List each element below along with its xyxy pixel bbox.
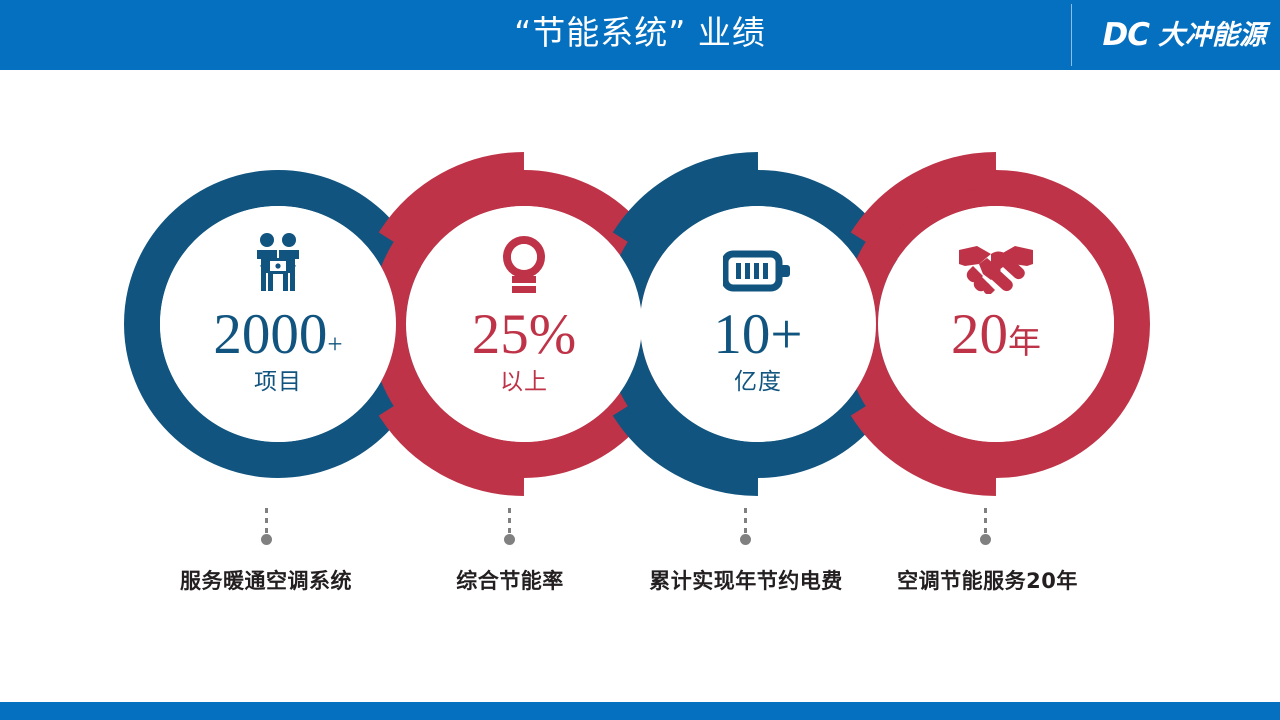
stat-number-1-value: 2000: [213, 303, 327, 366]
stat-icon-2-wrapper: [424, 230, 624, 294]
stat-unit-2: 以上: [424, 370, 624, 395]
battery-icon: [723, 248, 793, 294]
stat-number-1: 2000+: [178, 306, 378, 363]
stat-number-4-value: 20: [951, 303, 1008, 366]
stat-unit-1: 项目: [178, 370, 378, 395]
stat-card-3: 10+ 亿度: [658, 230, 858, 395]
stat-caption-2: 综合节能率: [410, 565, 610, 595]
stat-number-4: 20年: [896, 306, 1096, 363]
connector-dot-1: [261, 534, 272, 545]
footer-bar: [0, 702, 1280, 720]
handshake-icon: [957, 242, 1035, 294]
stat-unit-3: 亿度: [658, 370, 858, 395]
stat-number-4-suffix: 年: [1008, 325, 1041, 361]
stat-number-3: 10+: [658, 306, 858, 363]
stat-caption-1: 服务暖通空调系统: [166, 565, 366, 595]
logo-mark-dc: DC: [1103, 20, 1149, 51]
stat-number-2-value: 25%: [472, 303, 576, 366]
connector-dot-2: [504, 534, 515, 545]
page-title: “节能系统” 业绩: [0, 0, 1280, 70]
logo-company-name: 大冲能源: [1158, 22, 1266, 49]
header-divider: [1071, 4, 1072, 66]
connector-dot-3: [740, 534, 751, 545]
connector-dot-4: [980, 534, 991, 545]
stat-icon-1-wrapper: [178, 230, 378, 294]
stat-number-2: 25%: [424, 306, 624, 363]
lightbulb-icon: [495, 232, 553, 294]
stat-caption-3: 累计实现年节约电费: [637, 565, 855, 595]
stat-number-3-value: 10+: [713, 303, 802, 366]
stat-card-2: 25% 以上: [424, 230, 624, 395]
company-logo: DC 大冲能源: [1103, 14, 1266, 56]
stat-card-1: 2000+ 项目: [178, 230, 378, 395]
stat-number-1-suffix: +: [327, 329, 342, 359]
stats-rings-stage: 2000+ 项目 25% 以上: [0, 70, 1280, 702]
stat-card-4: 20年: [896, 230, 1096, 370]
stat-icon-3-wrapper: [658, 230, 858, 294]
header-bar: “节能系统” 业绩 DC 大冲能源: [0, 0, 1280, 70]
stat-caption-4: 空调节能服务20年: [880, 565, 1095, 595]
stat-icon-4-wrapper: [896, 230, 1096, 294]
teamwork-people-icon: [246, 232, 310, 294]
